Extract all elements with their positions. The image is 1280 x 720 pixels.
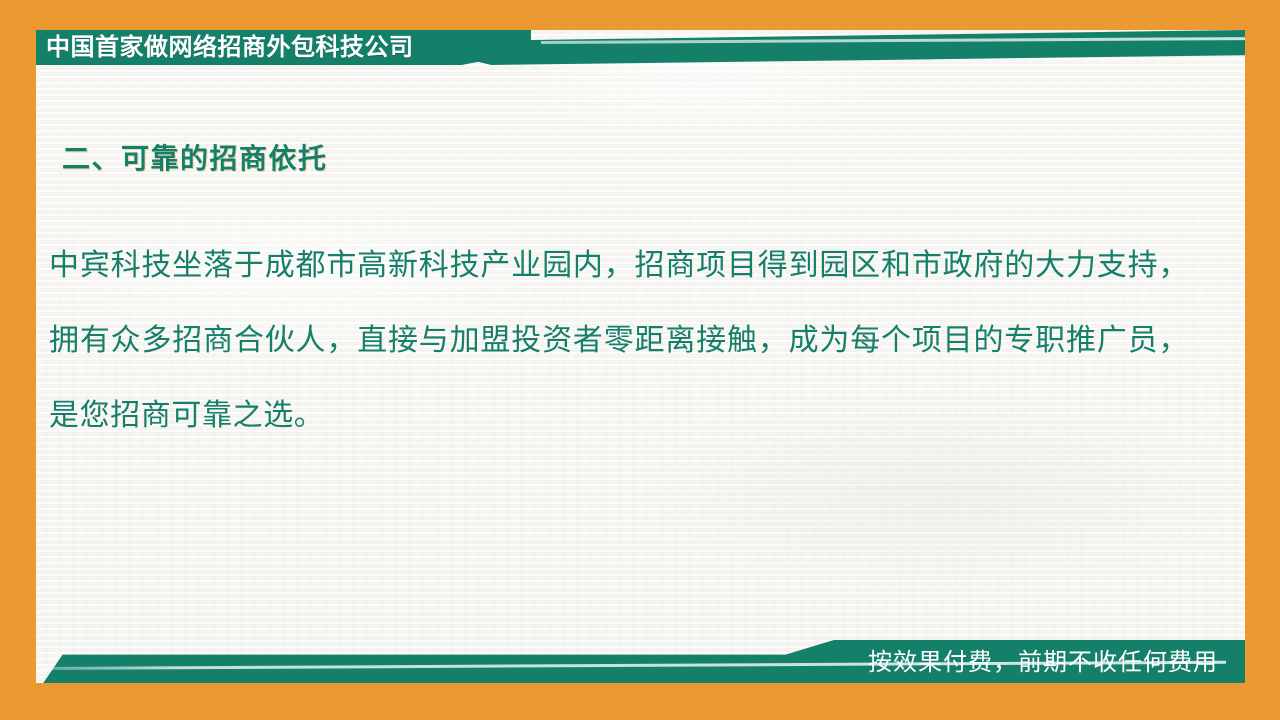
section-title: 二、可靠的招商依托 xyxy=(62,137,328,177)
body-text-block: 中宾科技坐落于成都市高新科技产业园内，招商项目得到园区和市政府的大力支持，拥有众… xyxy=(49,228,1189,453)
frame-border-top xyxy=(0,0,1280,30)
frame-border-right xyxy=(1245,0,1280,720)
frame-border-left xyxy=(0,0,36,720)
footer-tagline: 按效果付费，前期不收任何费用 xyxy=(700,642,1240,683)
frame-border-bottom xyxy=(0,683,1280,720)
body-paragraph: 中宾科技坐落于成都市高新科技产业园内，招商项目得到园区和市政府的大力支持，拥有众… xyxy=(49,228,1189,453)
header-title: 中国首家做网络招商外包科技公司 xyxy=(46,31,516,65)
presentation-slide: 中国首家做网络招商外包科技公司 二、可靠的招商依托 中宾科技坐落于成都市高新科技… xyxy=(0,0,1280,720)
